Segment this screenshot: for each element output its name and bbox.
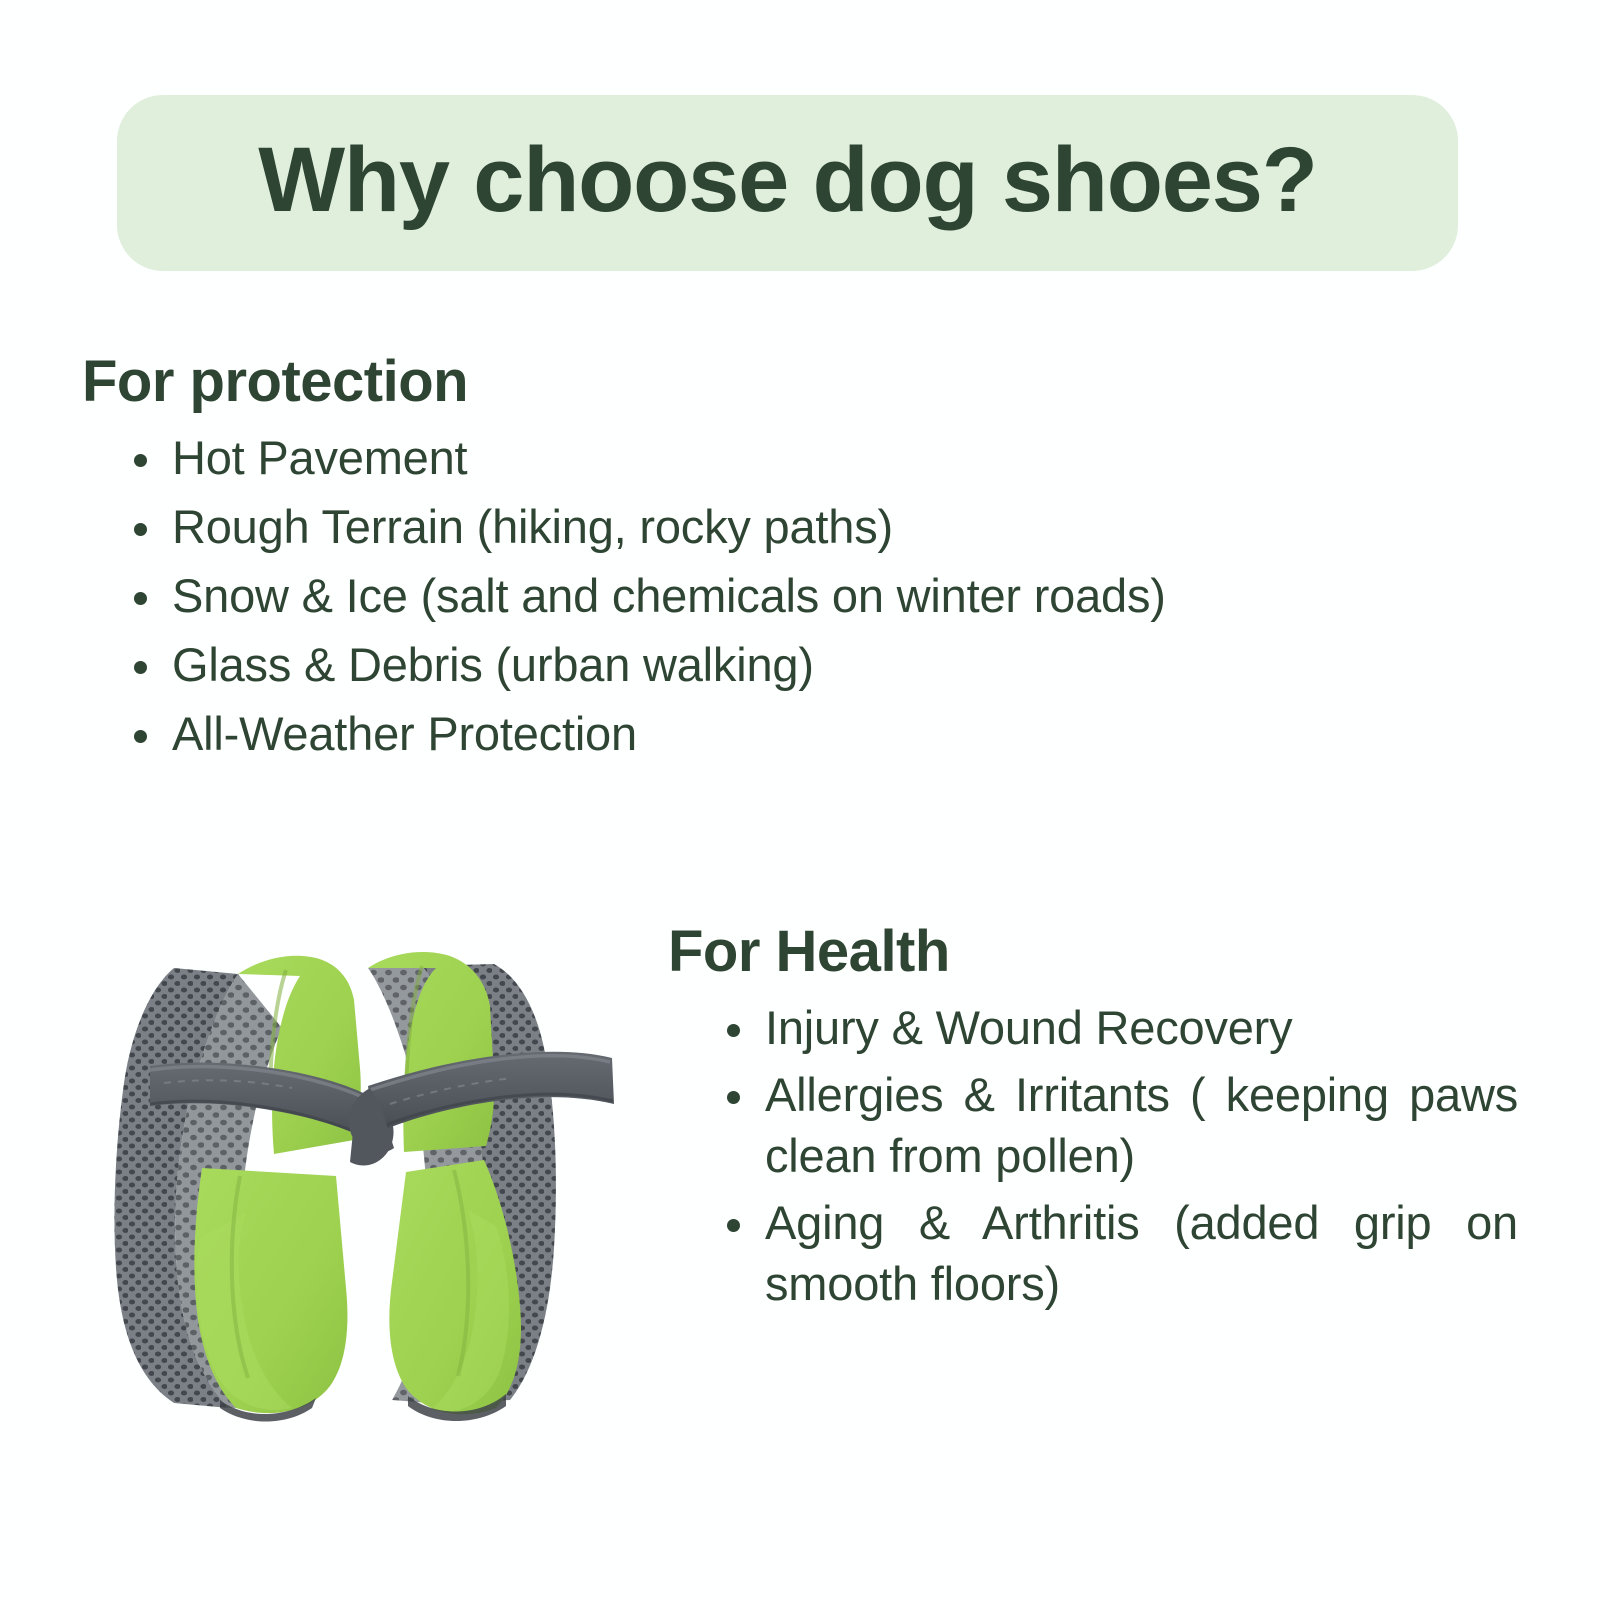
product-photo-dog-shoes [24, 908, 644, 1438]
health-section: For Health Injury & Wound Recovery Aller… [668, 922, 1518, 1320]
list-item: Aging & Arthritis (added grip on smooth … [668, 1192, 1518, 1314]
health-heading: For Health [668, 922, 1518, 983]
title-banner: Why choose dog shoes? [117, 95, 1458, 271]
protection-heading: For protection [82, 352, 1242, 413]
health-bullet-list: Injury & Wound Recovery Allergies & Irri… [668, 997, 1518, 1314]
protection-bullet-list: Hot Pavement Rough Terrain (hiking, rock… [82, 427, 1242, 764]
protection-section: For protection Hot Pavement Rough Terrai… [82, 352, 1242, 772]
list-item: All-Weather Protection [82, 703, 1242, 764]
right-boot [349, 952, 614, 1421]
list-item: Rough Terrain (hiking, rocky paths) [82, 496, 1242, 557]
list-item: Glass & Debris (urban walking) [82, 634, 1242, 695]
list-item: Hot Pavement [82, 427, 1242, 488]
list-item: Allergies & Irritants ( keeping paws cle… [668, 1064, 1518, 1186]
left-boot [114, 956, 393, 1422]
list-item: Snow & Ice (salt and chemicals on winter… [82, 565, 1242, 626]
page-title: Why choose dog shoes? [258, 134, 1316, 232]
list-item: Injury & Wound Recovery [668, 997, 1518, 1058]
